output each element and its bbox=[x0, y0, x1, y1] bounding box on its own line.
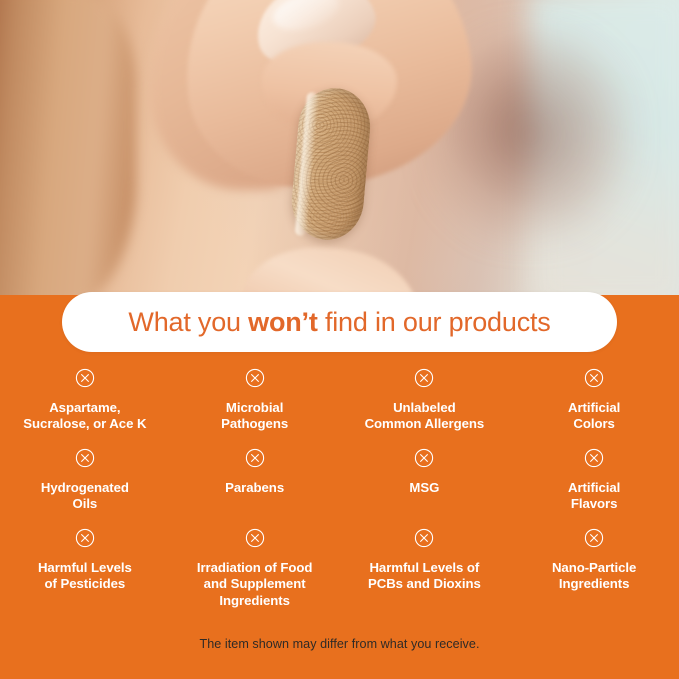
claim-item: Parabens bbox=[170, 448, 340, 528]
arm-shape bbox=[0, 0, 136, 300]
circle-x-icon bbox=[414, 528, 434, 553]
circle-x-icon bbox=[584, 448, 604, 473]
claim-label: Nano-Particle Ingredients bbox=[552, 560, 636, 593]
claim-item: Microbial Pathogens bbox=[170, 368, 340, 448]
index-finger-shape bbox=[232, 236, 428, 300]
circle-x-icon bbox=[245, 368, 265, 393]
headline-emphasis: won’t bbox=[248, 307, 317, 337]
claim-label: Artificial Flavors bbox=[568, 480, 620, 513]
claim-label: Microbial Pathogens bbox=[221, 400, 288, 433]
circle-x-icon bbox=[584, 368, 604, 393]
claim-label: Unlabeled Common Allergens bbox=[365, 400, 485, 433]
claim-item: Artificial Colors bbox=[509, 368, 679, 448]
claim-label: MSG bbox=[409, 480, 439, 496]
claim-label: Artificial Colors bbox=[568, 400, 620, 433]
claim-item: Aspartame, Sucralose, or Ace K bbox=[0, 368, 170, 448]
circle-x-icon bbox=[75, 368, 95, 393]
claim-item: Hydrogenated Oils bbox=[0, 448, 170, 528]
claim-item: Unlabeled Common Allergens bbox=[340, 368, 510, 448]
claim-label: Parabens bbox=[225, 480, 284, 496]
circle-x-icon bbox=[75, 448, 95, 473]
circle-x-icon bbox=[414, 448, 434, 473]
disclaimer-text: The item shown may differ from what you … bbox=[0, 637, 679, 651]
claims-grid: Aspartame, Sucralose, or Ace K Microbial… bbox=[0, 368, 679, 614]
circle-x-icon bbox=[584, 528, 604, 553]
claim-item: Nano-Particle Ingredients bbox=[509, 528, 679, 614]
claim-item: Irradiation of Food and Supplement Ingre… bbox=[170, 528, 340, 614]
claim-label: Irradiation of Food and Supplement Ingre… bbox=[197, 560, 313, 609]
claim-label: Hydrogenated Oils bbox=[41, 480, 129, 513]
claim-item: MSG bbox=[340, 448, 510, 528]
claim-item: Artificial Flavors bbox=[509, 448, 679, 528]
headline-banner: What you won’t find in our products bbox=[62, 292, 617, 352]
claim-label: Harmful Levels of PCBs and Dioxins bbox=[368, 560, 481, 593]
circle-x-icon bbox=[245, 528, 265, 553]
claim-label: Harmful Levels of Pesticides bbox=[38, 560, 132, 593]
page-title: What you won’t find in our products bbox=[128, 307, 550, 338]
claim-item: Harmful Levels of PCBs and Dioxins bbox=[340, 528, 510, 614]
product-photo bbox=[0, 0, 679, 300]
circle-x-icon bbox=[414, 368, 434, 393]
headline-prefix: What you bbox=[128, 307, 248, 337]
claim-label: Aspartame, Sucralose, or Ace K bbox=[23, 400, 146, 433]
claim-item: Harmful Levels of Pesticides bbox=[0, 528, 170, 614]
headline-suffix: find in our products bbox=[318, 307, 551, 337]
circle-x-icon bbox=[245, 448, 265, 473]
circle-x-icon bbox=[75, 528, 95, 553]
